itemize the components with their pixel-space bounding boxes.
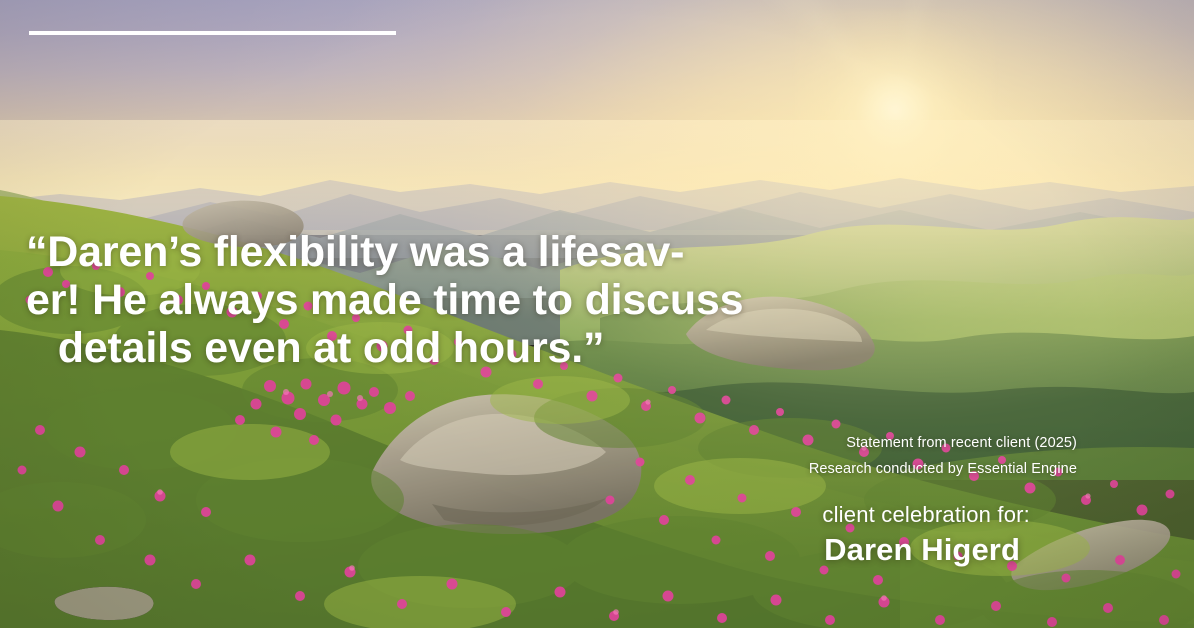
attribution: Statement from recent client (2025) Rese…	[809, 430, 1077, 482]
attribution-research: Research conducted by Essential Engine	[809, 456, 1077, 482]
testimonial-card: “Daren’s flexibility was a lifesav- er! …	[0, 0, 1194, 628]
signature-label: client celebration for:	[822, 500, 1034, 530]
signature-name: Daren Higerd	[822, 530, 1034, 570]
quote-line-1: “Daren’s flexibility was a lifesav-	[26, 228, 636, 276]
signature: client celebration for: Daren Higerd	[822, 500, 1034, 570]
quote-line-3: details even at odd hours.”	[26, 324, 636, 372]
attribution-source: Statement from recent client (2025)	[809, 430, 1077, 456]
testimonial-quote: “Daren’s flexibility was a lifesav- er! …	[26, 228, 636, 372]
quote-line-2: er! He always made time to discuss	[26, 276, 636, 324]
top-accent-rule	[29, 31, 396, 35]
